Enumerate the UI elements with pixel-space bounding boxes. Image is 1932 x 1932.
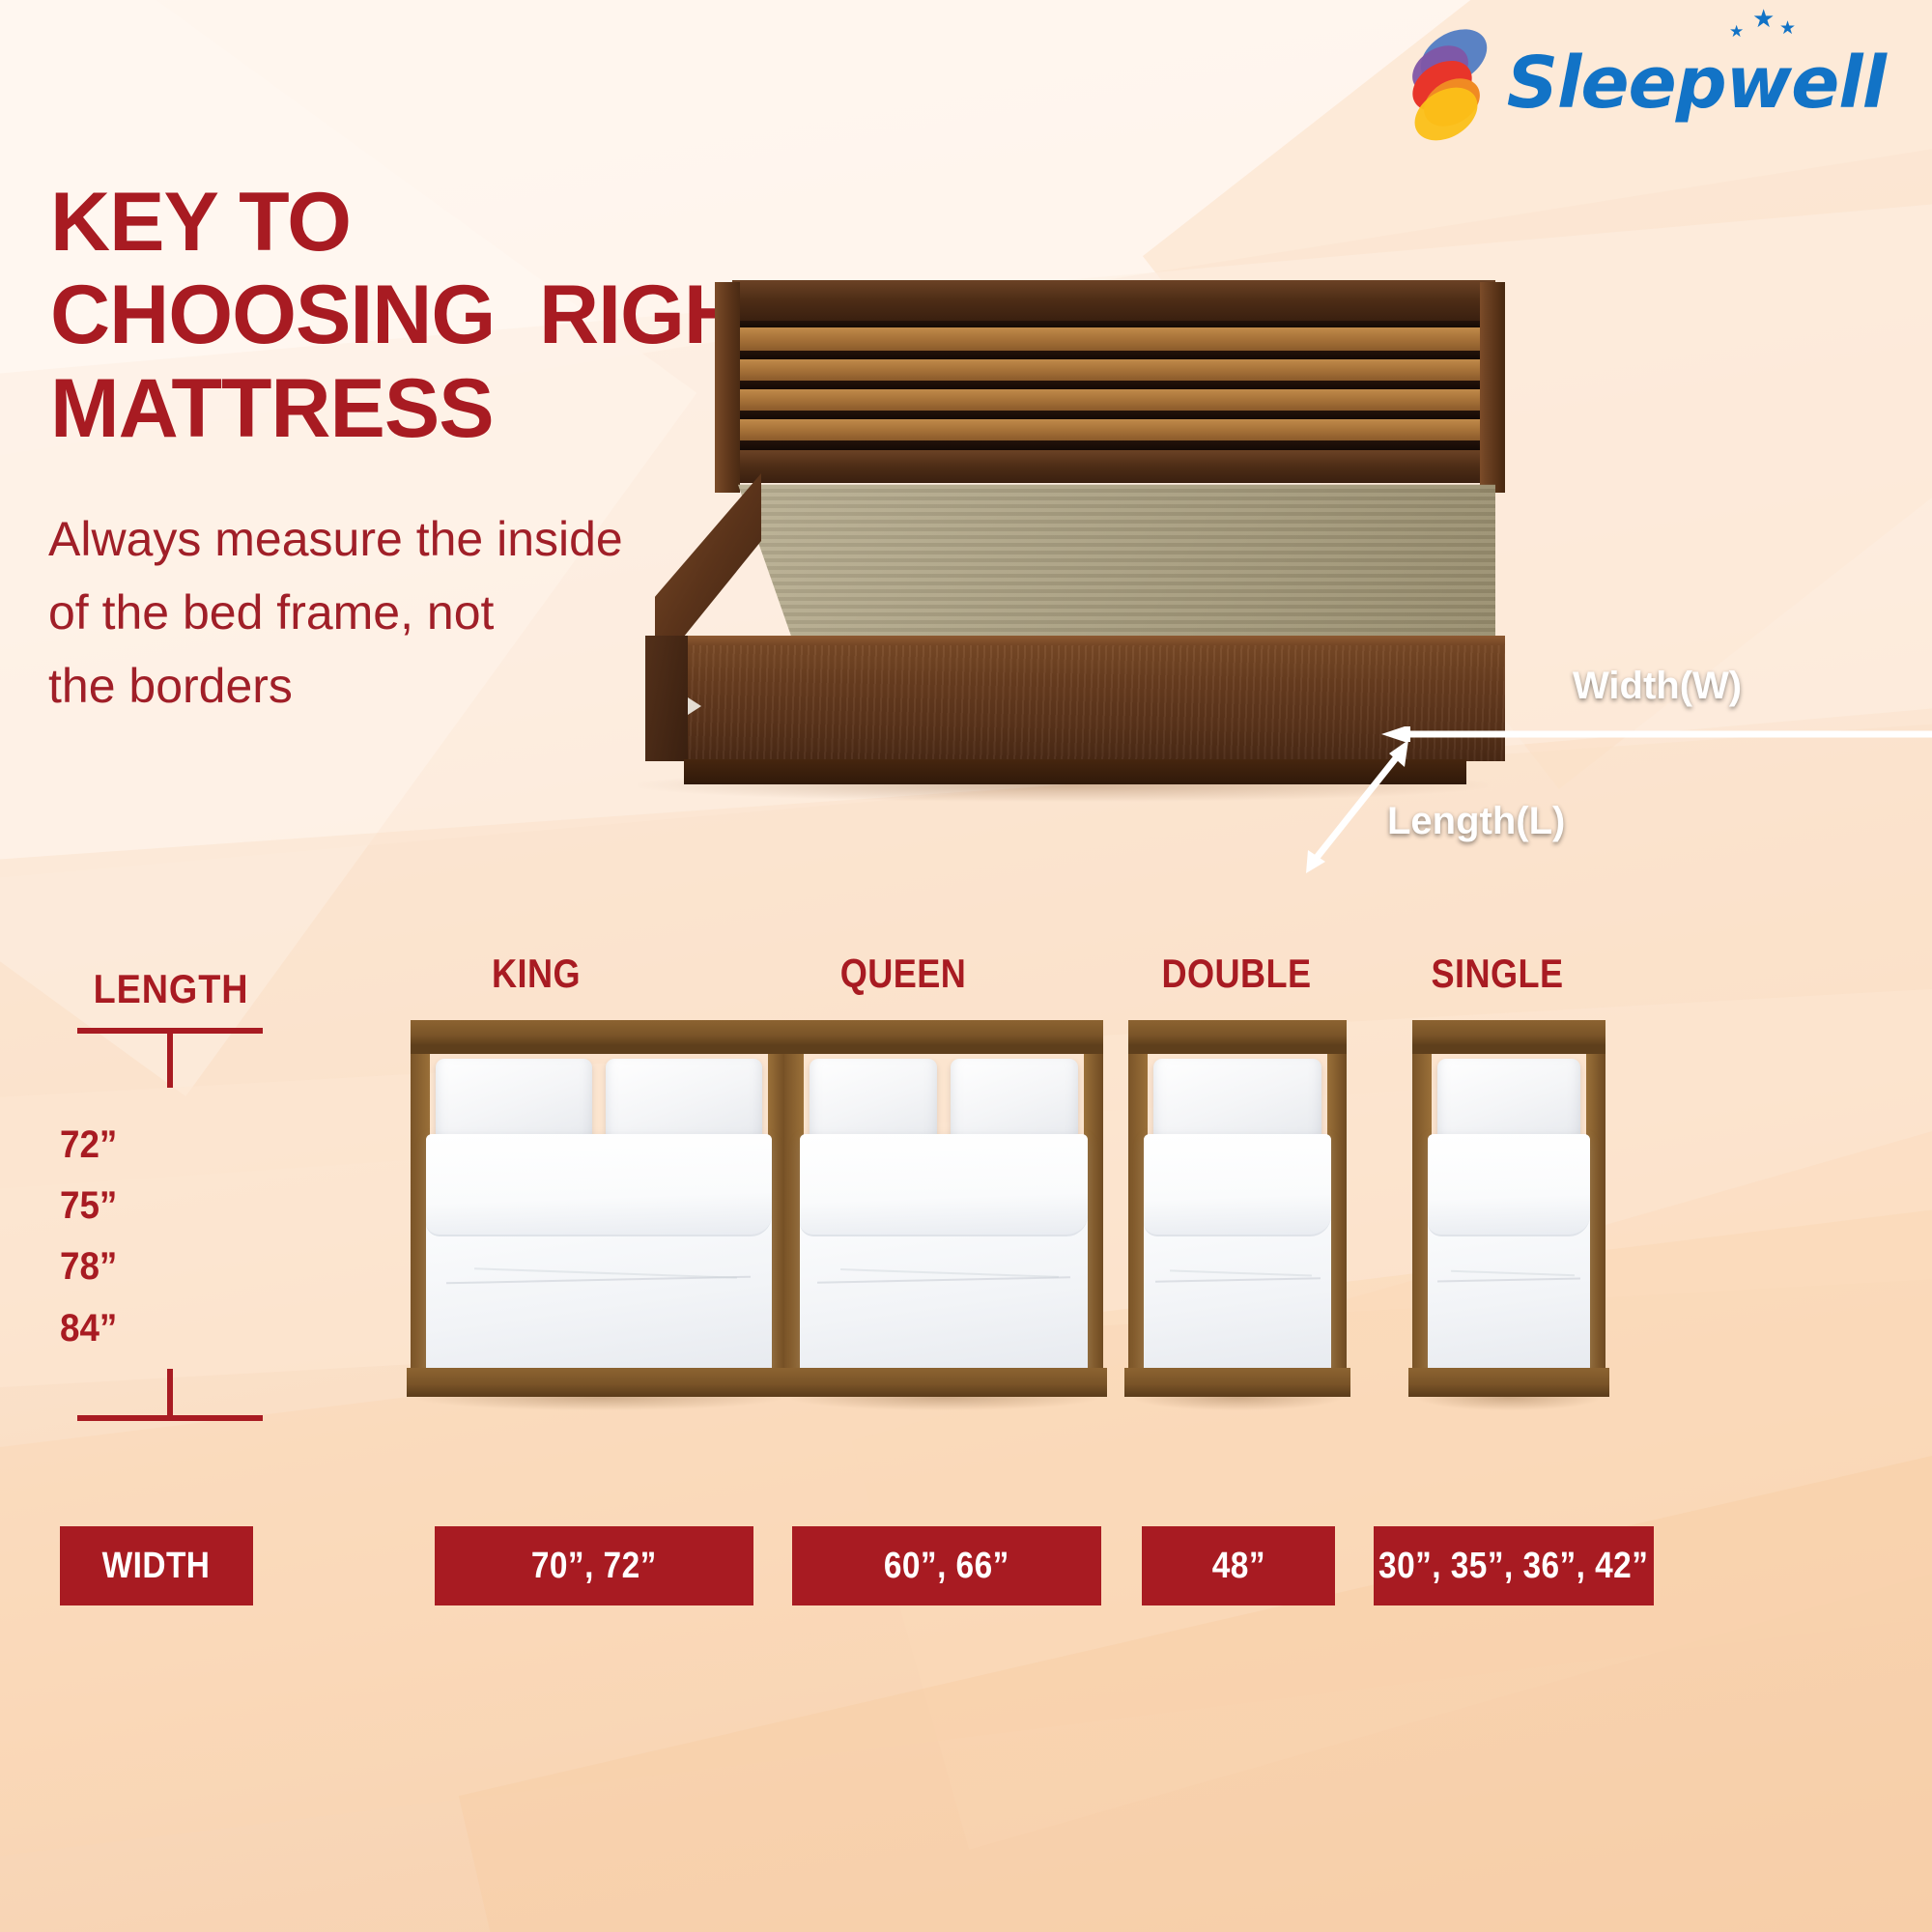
- width-value-box-single: 30”, 35”, 36”, 42”: [1374, 1526, 1654, 1605]
- bed-top-view-king: [411, 1020, 787, 1397]
- bed-top-view-single: [1412, 1020, 1605, 1397]
- headboard-bar: [411, 1020, 787, 1045]
- ruler-bottom-bracket: [50, 1369, 292, 1436]
- width-label-box: WIDTH: [60, 1526, 253, 1605]
- width-value-single: 30”, 35”, 36”, 42”: [1378, 1546, 1648, 1587]
- headboard-bar: [1412, 1020, 1605, 1045]
- length-ruler: LENGTH 72” 75” 78” 84”: [50, 966, 292, 1436]
- star-icon: ★: [1779, 19, 1796, 38]
- page-subtitle: Always measure the inside of the bed fra…: [48, 502, 667, 723]
- bed-frame-illustration: Width(W) Length(L): [618, 280, 1497, 792]
- length-dimension-label: Length(L): [1387, 800, 1565, 843]
- headboard: [732, 280, 1495, 483]
- column-header-king: KING: [391, 951, 682, 997]
- headboard-bar: [1128, 1020, 1347, 1045]
- bed-top-view-queen: [784, 1020, 1103, 1397]
- length-values-list: 72” 75” 78” 84”: [50, 1115, 292, 1359]
- ruler-top-bracket: [50, 1028, 292, 1090]
- duvet: [1428, 1134, 1590, 1372]
- footboard-bar: [1408, 1368, 1609, 1397]
- width-value-box-king: 70”, 72”: [435, 1526, 753, 1605]
- width-value-queen: 60”, 66”: [884, 1546, 1009, 1587]
- footboard-bar: [1124, 1368, 1350, 1397]
- headboard-post-left: [715, 282, 740, 493]
- width-value-box-double: 48”: [1142, 1526, 1335, 1605]
- stars-icon: ★ ★ ★: [1727, 10, 1814, 48]
- brand-wordmark: Sleepwell: [1507, 47, 1886, 119]
- infographic-canvas: Sleepwell ★ ★ ★ KEY TO CHOOSING RIGHT MA…: [0, 0, 1932, 1932]
- duvet: [800, 1134, 1088, 1372]
- subtitle-line-1: Always measure the inside: [48, 502, 667, 576]
- length-value: 72”: [60, 1115, 282, 1176]
- brand-logo: Sleepwell ★ ★ ★: [1408, 31, 1886, 135]
- width-value-double: 48”: [1211, 1546, 1264, 1587]
- footboard-bar: [781, 1368, 1107, 1397]
- size-comparison-section: LENGTH 72” 75” 78” 84” KING QUEEN DOUBLE: [0, 927, 1932, 1932]
- star-icon: ★: [1752, 6, 1775, 31]
- column-header-single: SINGLE: [1373, 951, 1622, 997]
- slatted-base-sheen: [723, 481, 1495, 661]
- column-header-queen: QUEEN: [758, 951, 1049, 997]
- width-arrow-icon: [1381, 726, 1932, 742]
- duvet: [426, 1134, 772, 1372]
- footboard-corner: [645, 636, 688, 761]
- sleepwell-s-icon: [1408, 31, 1490, 135]
- length-value: 78”: [60, 1236, 282, 1297]
- length-value: 84”: [60, 1298, 282, 1359]
- subtitle-line-3: the borders: [48, 649, 667, 723]
- headline-line-1: KEY TO: [50, 176, 784, 269]
- headboard-bar: [784, 1020, 1103, 1045]
- length-ruler-title: LENGTH: [63, 966, 280, 1012]
- width-label-text: WIDTH: [102, 1546, 211, 1587]
- width-dimension-label: Width(W): [1573, 665, 1742, 708]
- column-header-double: DOUBLE: [1112, 951, 1361, 997]
- star-icon: ★: [1729, 23, 1744, 40]
- footboard-bar: [407, 1368, 791, 1397]
- duvet: [1144, 1134, 1331, 1372]
- width-value-king: 70”, 72”: [531, 1546, 657, 1587]
- bed-top-view-double: [1128, 1020, 1347, 1397]
- length-value: 75”: [60, 1176, 282, 1236]
- drawer-handle-icon: [688, 697, 701, 715]
- subtitle-line-2: of the bed frame, not: [48, 576, 667, 649]
- headboard-post-right: [1480, 282, 1505, 493]
- width-value-box-queen: 60”, 66”: [792, 1526, 1101, 1605]
